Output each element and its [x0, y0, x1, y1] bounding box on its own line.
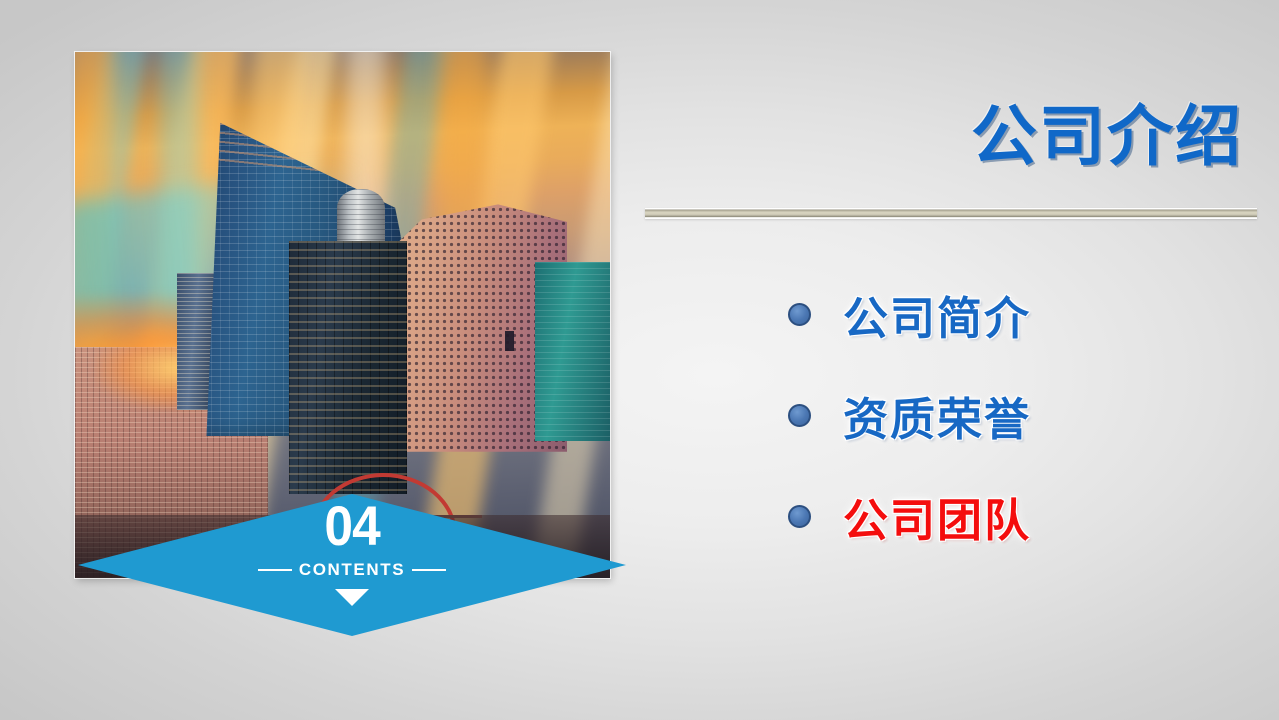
- bullet-dot-icon: [788, 303, 811, 326]
- bullet-dot-icon: [788, 505, 811, 528]
- slide-content-panel: 公司介绍 公司简介 资质荣誉 公司团队: [640, 60, 1265, 580]
- page-title: 公司介绍: [971, 83, 1243, 179]
- list-item[interactable]: 公司简介: [788, 282, 1031, 347]
- contents-label-row: CONTENTS: [258, 560, 446, 580]
- dark-glass-tower: [289, 241, 407, 493]
- contents-label: CONTENTS: [299, 560, 405, 580]
- contents-rule-right: [412, 569, 446, 571]
- presentation-slide: 04 CONTENTS 公司介绍 公司简介 资质荣誉 公司团队: [0, 0, 1279, 720]
- facade-notch: [505, 331, 513, 351]
- contents-section-number: 04: [324, 498, 379, 554]
- teal-glass-tower: [535, 262, 610, 441]
- distant-twin-tower: [177, 273, 214, 410]
- contents-rule-left: [258, 569, 292, 571]
- list-item-label: 公司团队: [843, 484, 1031, 549]
- list-item-label: 资质荣誉: [843, 383, 1031, 448]
- list-item[interactable]: 资质荣誉: [788, 383, 1031, 448]
- title-divider: [645, 208, 1257, 219]
- agenda-list: 公司简介 资质荣誉 公司团队: [788, 282, 1031, 549]
- triangle-down-icon: [335, 589, 369, 606]
- list-item-label: 公司简介: [843, 282, 1031, 347]
- list-item[interactable]: 公司团队: [788, 484, 1031, 549]
- bullet-dot-icon: [788, 404, 811, 427]
